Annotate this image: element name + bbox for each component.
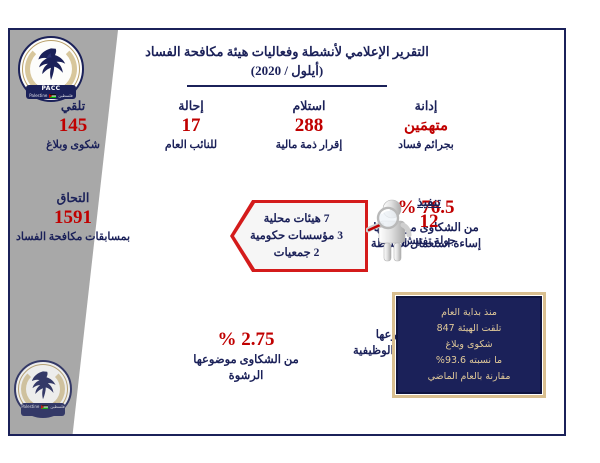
pct-value: 2.75 %	[166, 327, 326, 352]
stat-value: 17	[136, 114, 246, 138]
yearly-line-3: شكوى وبلاغ	[445, 337, 492, 353]
stat-label: استلام	[250, 98, 368, 114]
stat-caption: جولة تفتيش	[398, 234, 460, 249]
target-line-3: 2 جمعيات	[274, 245, 320, 262]
yearly-summary-box: منذ بداية العام تلقت الهيئة 847 شكوى وبل…	[396, 296, 542, 394]
yearly-line-2: تلقت الهيئة 847	[437, 321, 502, 337]
title-underline	[187, 85, 387, 87]
stat-complaints-received: تلقي 145 شكوى وبلاغ	[14, 98, 132, 153]
stat-value: 12	[398, 210, 460, 234]
stat-value: 145	[14, 114, 132, 138]
yearly-line-5: مقارنة بالعام الماضي	[428, 369, 511, 385]
stat-caption: بجرائم فساد	[370, 138, 482, 153]
pct-bribery: 2.75 % من الشكاوى موضوعها الرشوة	[166, 327, 326, 384]
stat-value: متهمَين	[370, 114, 482, 138]
yearly-line-1: منذ بداية العام	[441, 305, 497, 321]
stat-value: 288	[250, 114, 368, 138]
stat-caption: إقرار ذمة مالية	[250, 138, 368, 153]
stat-referrals-to-prosecutor: إحالة 17 للنائب العام	[136, 98, 246, 153]
report-period: (أيلول / 2020)	[10, 61, 564, 80]
stat-label: إدانة	[370, 98, 482, 114]
stat-label: تلقي	[14, 98, 132, 114]
stat-label: التحاق	[14, 190, 132, 206]
stat-financial-disclosures: استلام 288 إقرار ذمة مالية	[250, 98, 368, 153]
pct-line-1: من الشكاوى موضوعها	[166, 352, 326, 368]
page-title: التقرير الإعلامي لأنشطة وفعاليات هيئة مك…	[10, 42, 564, 61]
stat-label: إحالة	[136, 98, 246, 114]
stat-convictions: إدانة متهمَين بجرائم فساد	[370, 98, 482, 153]
target-line-2: 3 مؤسسات حكومية	[250, 228, 343, 245]
stat-anticorruption-contest-participants: التحاق 1591 بمسابقات مكافحة الفساد	[14, 190, 132, 245]
target-line-1: 7 هيئات محلية	[264, 211, 330, 228]
stat-caption: للنائب العام	[136, 138, 246, 153]
stat-value: 1591	[14, 206, 132, 230]
arrow-shape-inner: 7 هيئات محلية 3 مؤسسات حكومية 2 جمعيات	[234, 203, 365, 269]
pct-line-2: الرشوة	[166, 368, 326, 384]
stat-caption: بمسابقات مكافحة الفساد	[14, 230, 132, 245]
stat-label: تنفيذ	[398, 194, 460, 210]
stat-caption: شكوى وبلاغ	[14, 138, 132, 153]
inspection-targets-callout: 7 هيئات محلية 3 مؤسسات حكومية 2 جمعيات	[230, 200, 368, 272]
stat-inspection-rounds: تنفيذ 12 جولة تفتيش	[398, 194, 460, 249]
report-poster: PACC Palestineفلسطين Palestineفلسطين الت…	[8, 28, 566, 436]
yearly-line-4: ما نسبته 93.6%	[436, 353, 502, 369]
report-title-block: التقرير الإعلامي لأنشطة وفعاليات هيئة مك…	[10, 42, 564, 87]
